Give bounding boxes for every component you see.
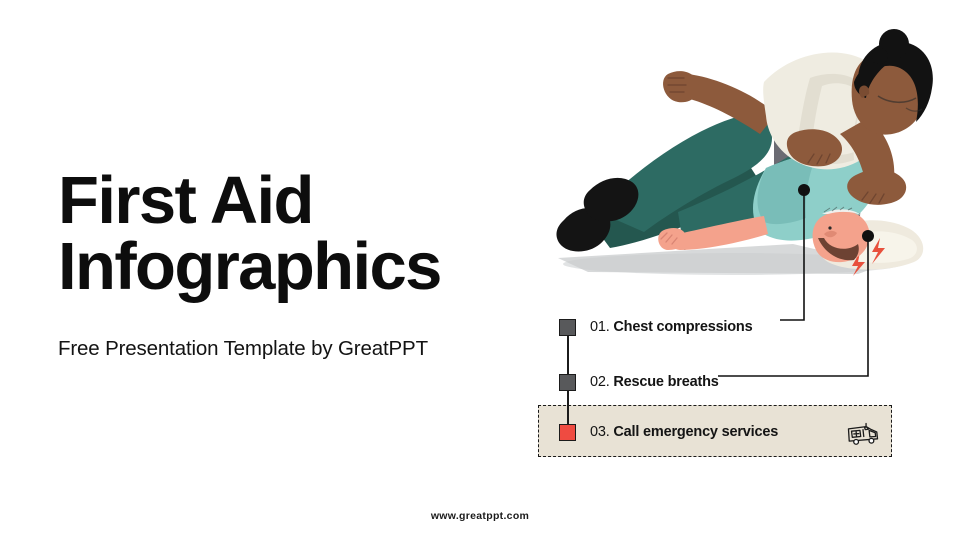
cpr-first-aid-illustration bbox=[528, 22, 958, 312]
step-item-2[interactable]: 02. Rescue breaths bbox=[538, 367, 719, 397]
step-label-1: 01. Chest compressions bbox=[590, 319, 752, 335]
step-bullet-3 bbox=[559, 424, 576, 441]
step-item-1[interactable]: 01. Chest compressions bbox=[538, 312, 752, 342]
step-label-2: 02. Rescue breaths bbox=[590, 374, 719, 390]
step-number-2: 02. bbox=[590, 374, 610, 390]
ambulance-icon bbox=[846, 422, 880, 448]
step-label-3: 03. Call emergency services bbox=[590, 424, 778, 440]
slide-root: First Aid Infographics Free Presentation… bbox=[0, 0, 960, 540]
title-block: First Aid Infographics bbox=[58, 168, 528, 301]
step-bullet-2 bbox=[559, 374, 576, 391]
step-number-1: 01. bbox=[590, 319, 610, 335]
step-item-3[interactable]: 03. Call emergency services bbox=[538, 417, 778, 447]
step-number-3: 03. bbox=[590, 424, 610, 440]
page-subtitle: Free Presentation Template by GreatPPT bbox=[58, 337, 428, 361]
step-bullet-1 bbox=[559, 319, 576, 336]
page-title: First Aid Infographics bbox=[58, 168, 528, 301]
step-text-3: Call emergency services bbox=[613, 424, 778, 440]
step-text-2: Rescue breaths bbox=[613, 374, 718, 390]
steps-list: 01. Chest compressions 02. Rescue breath… bbox=[538, 300, 898, 470]
footer-url: www.greatppt.com bbox=[0, 510, 960, 522]
step-text-1: Chest compressions bbox=[613, 319, 752, 335]
